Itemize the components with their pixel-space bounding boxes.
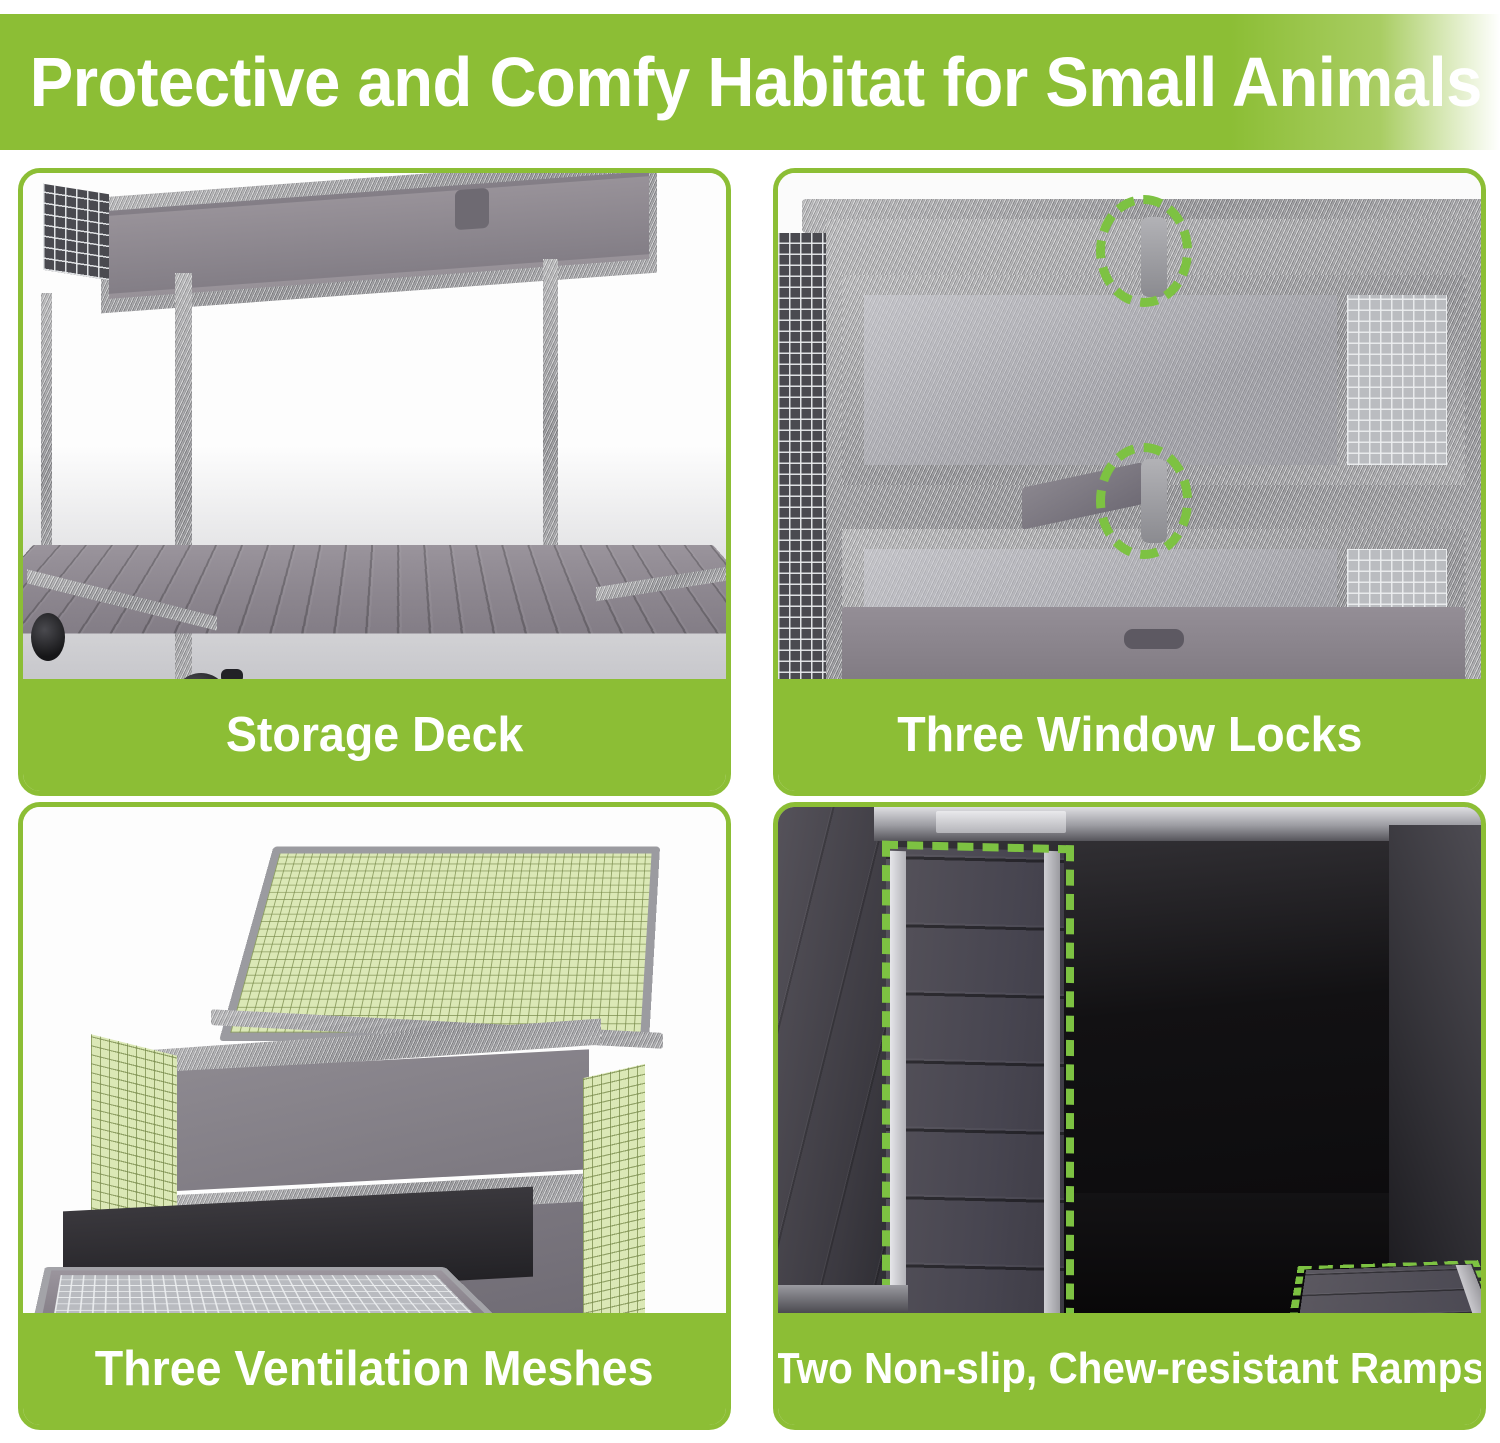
highlight-rect-large-ramp bbox=[882, 841, 1074, 1313]
window-locks-photo bbox=[778, 173, 1481, 679]
ramps-photo bbox=[778, 807, 1481, 1313]
interior-left-wall bbox=[778, 807, 886, 1313]
hinge-plate bbox=[936, 811, 1066, 833]
caption-bar-window-locks: Three Window Locks bbox=[778, 679, 1481, 791]
highlight-circle-top-lock bbox=[1096, 195, 1192, 307]
pull-out-drawer[interactable] bbox=[842, 607, 1465, 679]
interior-right-panel bbox=[1389, 825, 1481, 1313]
caption-bar-ramps: Two Non-slip, Chew-resistant Ramps bbox=[778, 1313, 1481, 1425]
upper-window-glass bbox=[864, 295, 1337, 465]
door-handle bbox=[455, 188, 489, 230]
drawer-handle[interactable] bbox=[1124, 629, 1184, 649]
caption-label: Three Window Locks bbox=[897, 711, 1362, 760]
upper-window-mesh-icon bbox=[1347, 295, 1447, 465]
highlight-circle-middle-lock bbox=[1096, 443, 1192, 559]
side-ventilation-mesh-icon bbox=[583, 1064, 645, 1313]
caption-label: Two Non-slip, Chew-resistant Ramps bbox=[775, 1347, 1485, 1391]
wire-mesh-panel-icon bbox=[43, 184, 109, 280]
feature-panel-ventilation-meshes[interactable]: Three Ventilation Meshes bbox=[18, 802, 731, 1430]
upper-compartment bbox=[145, 1049, 589, 1192]
tray-mesh-icon bbox=[53, 1275, 477, 1313]
caption-label: Three Ventilation Meshes bbox=[95, 1345, 654, 1394]
caption-bar-storage-deck: Storage Deck bbox=[23, 679, 726, 791]
roof-ventilation-mesh-icon bbox=[219, 847, 660, 1041]
side-wire-mesh-icon bbox=[778, 233, 830, 679]
caption-label: Storage Deck bbox=[226, 711, 524, 760]
feature-panel-ramps[interactable]: Two Non-slip, Chew-resistant Ramps bbox=[773, 802, 1486, 1430]
feature-panel-storage-deck[interactable]: Storage Deck bbox=[18, 168, 731, 796]
caption-bar-ventilation-meshes: Three Ventilation Meshes bbox=[23, 1313, 726, 1425]
ventilation-meshes-photo bbox=[23, 807, 726, 1313]
front-right-leg bbox=[543, 259, 558, 579]
header-banner: Protective and Comfy Habitat for Small A… bbox=[0, 14, 1500, 150]
page-title: Protective and Comfy Habitat for Small A… bbox=[0, 47, 1482, 117]
infographic-page: Protective and Comfy Habitat for Small A… bbox=[0, 0, 1500, 1443]
pull-out-tray bbox=[31, 1267, 508, 1313]
feature-panel-grid: Storage Deck bbox=[18, 168, 1486, 1430]
storage-deck-photo bbox=[23, 173, 726, 679]
bottom-lip bbox=[778, 1285, 908, 1313]
caster-wheel-rear bbox=[31, 613, 65, 661]
feature-panel-window-locks[interactable]: Three Window Locks bbox=[773, 168, 1486, 796]
